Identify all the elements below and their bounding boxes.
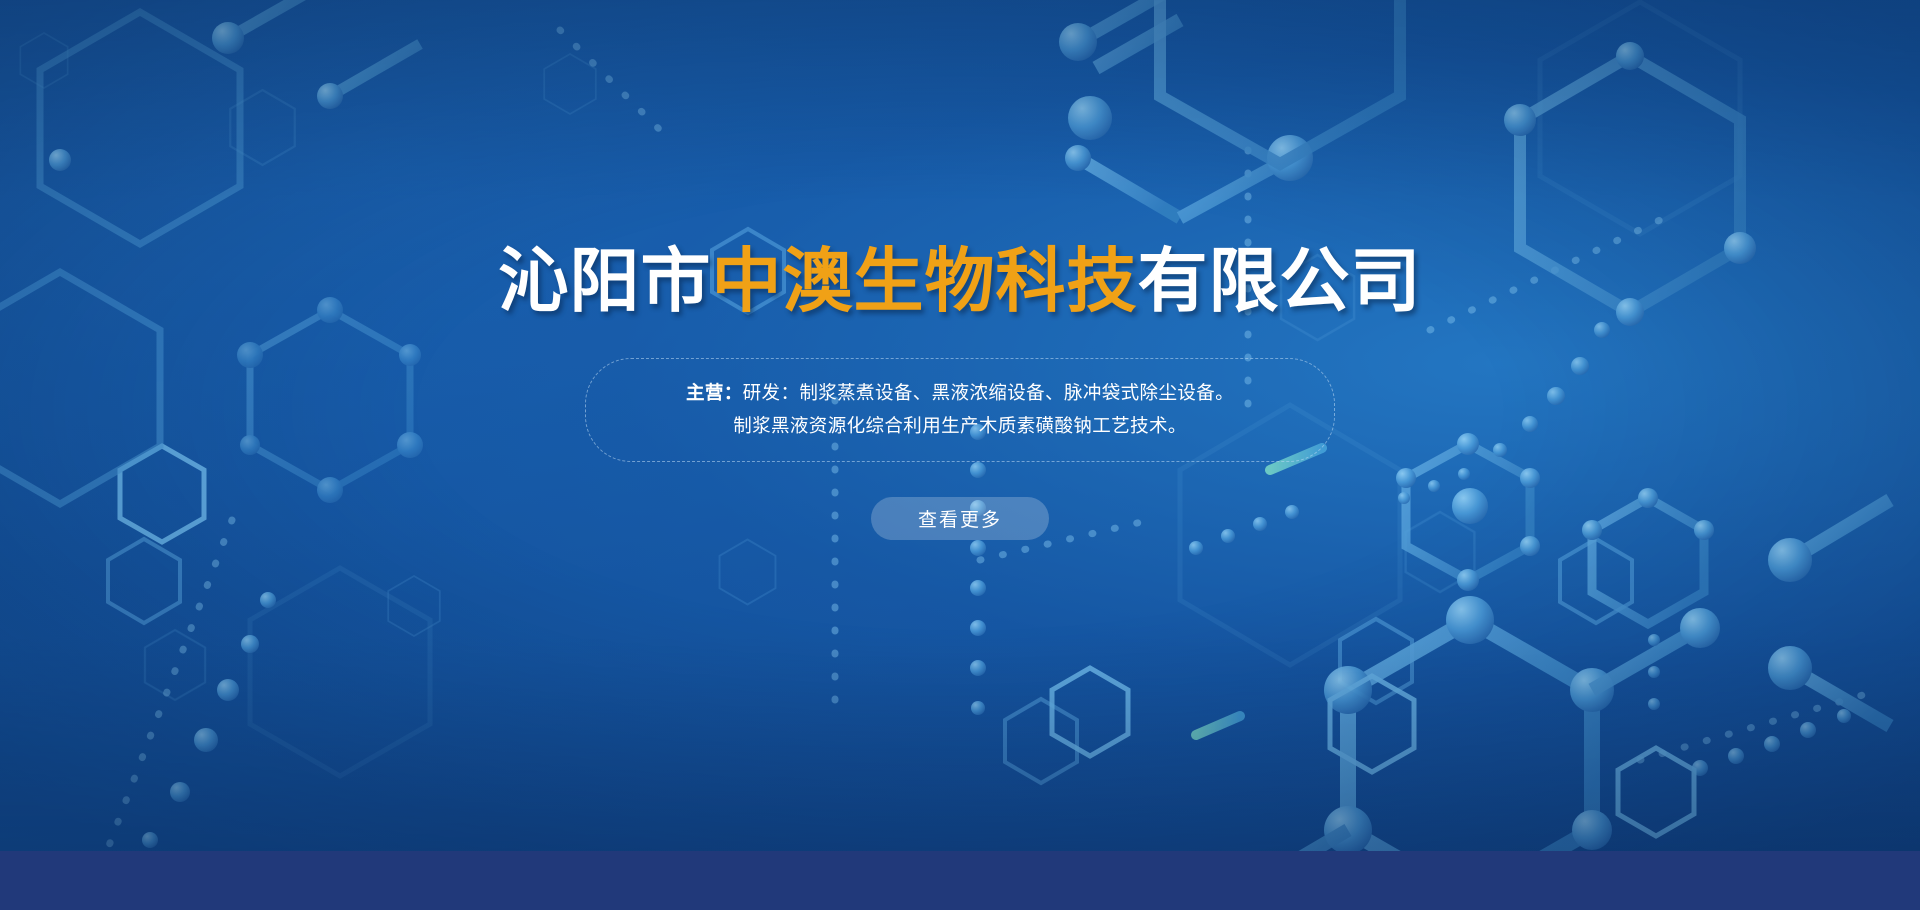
- tagline-line-1: 主营：研发：制浆蒸煮设备、黑液浓缩设备、脉冲袋式除尘设备。: [612, 376, 1308, 409]
- title-part-suffix: 有限公司: [1138, 242, 1422, 320]
- hero-banner: 沁阳市中澳生物科技有限公司 主营：研发：制浆蒸煮设备、黑液浓缩设备、脉冲袋式除尘…: [0, 0, 1920, 910]
- title-part-city: 沁阳市: [499, 242, 712, 320]
- tagline-box: 主营：研发：制浆蒸煮设备、黑液浓缩设备、脉冲袋式除尘设备。 制浆黑液资源化综合利…: [585, 358, 1335, 462]
- tagline-lead: 主营：: [686, 382, 743, 403]
- tagline-line-2: 制浆黑液资源化综合利用生产木质素磺酸钠工艺技术。: [612, 409, 1308, 442]
- view-more-button[interactable]: 查看更多: [871, 497, 1049, 540]
- hero-content: 沁阳市中澳生物科技有限公司 主营：研发：制浆蒸煮设备、黑液浓缩设备、脉冲袋式除尘…: [0, 0, 1920, 540]
- page-title: 沁阳市中澳生物科技有限公司: [499, 246, 1422, 316]
- bottom-bar: [0, 851, 1920, 910]
- title-part-brand: 中澳生物科技: [712, 242, 1138, 320]
- tagline-line-1-rest: 研发：制浆蒸煮设备、黑液浓缩设备、脉冲袋式除尘设备。: [743, 382, 1234, 403]
